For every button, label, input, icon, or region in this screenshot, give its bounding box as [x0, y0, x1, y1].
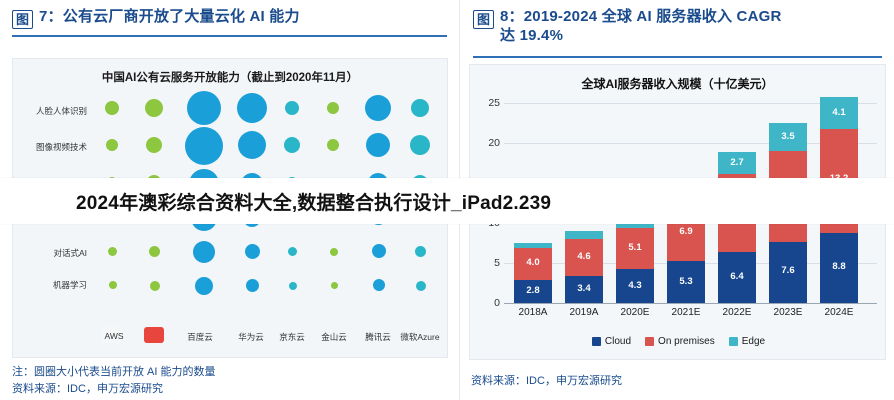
bar-segment-onprem: 4.0 — [514, 248, 552, 280]
logo-huawei — [144, 327, 164, 343]
x-label-2021E: 2021E — [663, 307, 709, 318]
bubble — [149, 246, 160, 257]
bar-label-onprem: 6.9 — [667, 226, 705, 237]
title-divider-left — [12, 35, 447, 37]
bubble — [185, 127, 223, 165]
bar-group-2022E[interactable]: 6.4 9.8 2.7 — [718, 152, 756, 303]
bubble — [285, 101, 299, 115]
figure-badge-icon: 图 — [12, 10, 33, 29]
x-label-2022E: 2022E — [714, 307, 760, 318]
x-label-2024E: 2024E — [816, 307, 862, 318]
row-label-dialog: 对话式AI — [19, 249, 87, 258]
x-label-2019A: 2019A — [561, 307, 607, 318]
bar-group-2018A[interactable]: 2.8 4.0 — [514, 243, 552, 303]
bubble — [411, 99, 429, 117]
bar-group-2019A[interactable]: 3.4 4.6 — [565, 231, 603, 303]
bar-label-onprem: 5.1 — [616, 242, 654, 253]
figure-8-title-line2: 达 19.4% — [500, 27, 563, 44]
bar-segment-onprem: 4.6 — [565, 239, 603, 276]
bar-label-cloud: 8.8 — [820, 261, 858, 272]
bubble — [366, 133, 390, 157]
bar-label-onprem: 4.0 — [514, 257, 552, 268]
bar-label-cloud: 4.3 — [616, 280, 654, 291]
legend-item-cloud[interactable]: Cloud — [592, 336, 631, 347]
bubble — [150, 281, 160, 291]
watermark-banner: 2024年澳彩综合资料大全,数据整合执行设计_iPad2.239 — [0, 178, 894, 224]
figure-8-source: 资料来源：IDC，申万宏源研究 — [471, 372, 622, 388]
bar-label-cloud: 3.4 — [565, 283, 603, 294]
y-tick-5: 5 — [474, 257, 500, 269]
y-tick-25: 25 — [474, 97, 500, 109]
bar-segment-onprem: 5.1 — [616, 228, 654, 269]
bubble — [108, 247, 117, 256]
bubble — [245, 244, 260, 259]
bubble — [193, 241, 215, 263]
bubble — [288, 247, 297, 256]
bubble — [331, 282, 338, 289]
bubble — [106, 139, 118, 151]
watermark-text: 2024年澳彩综合资料大全,数据整合执行设计_iPad2.239 — [0, 188, 551, 215]
bar-label-cloud: 5.3 — [667, 276, 705, 287]
legend-label-edge: Edge — [742, 336, 765, 347]
figure-8-title-row: 图 8：2019-2024 全球 AI 服务器收入 CAGR 达 19.4% — [461, 0, 894, 50]
bar-segment-cloud: 6.4 — [718, 252, 756, 303]
bar-segment-edge: 2.7 — [718, 152, 756, 174]
bar-segment-edge: 3.5 — [769, 123, 807, 151]
col-label-jd: 京东云 — [269, 331, 315, 343]
figure-7-title: 7：公有云厂商开放了大量云化 AI 能力 — [39, 8, 300, 27]
bubble — [145, 99, 163, 117]
legend-item-edge[interactable]: Edge — [729, 336, 765, 347]
figure-7-note-2: 资料来源：IDC，申万宏源研究 — [12, 381, 216, 398]
bubble — [289, 282, 297, 290]
col-label-baidu: 百度云 — [177, 331, 223, 343]
bubble — [372, 244, 386, 258]
col-label-huawei: 华为云 — [228, 331, 274, 343]
x-label-2023E: 2023E — [765, 307, 811, 318]
bubble — [237, 93, 267, 123]
bubble — [330, 248, 338, 256]
right-chart-title: 全球AI服务器收入规模（十亿美元） — [470, 65, 885, 92]
bubble — [238, 131, 266, 159]
bar-label-cloud: 2.8 — [514, 285, 552, 296]
bar-label-cloud: 6.4 — [718, 271, 756, 282]
legend-label-on-premises: On premises — [658, 336, 715, 347]
bar-label-edge: 3.5 — [769, 131, 807, 142]
bubble — [415, 246, 426, 257]
row-label-image: 图像视频技术 — [19, 143, 87, 152]
bubble — [373, 279, 385, 291]
bar-segment-cloud: 7.6 — [769, 242, 807, 303]
x-axis-line — [504, 303, 877, 304]
bar-segment-cloud: 2.8 — [514, 280, 552, 303]
col-label-ksyun: 金山云 — [311, 331, 357, 343]
bar-label-edge: 4.1 — [820, 107, 858, 118]
title-divider-right — [473, 56, 882, 58]
col-label-azure: 微软Azure — [397, 331, 443, 343]
bubble — [416, 281, 426, 291]
left-chart-title: 中国AI公有云服务开放能力（截止到2020年11月） — [13, 59, 447, 85]
x-label-2018A: 2018A — [510, 307, 556, 318]
bar-segment-cloud: 4.3 — [616, 269, 654, 303]
bar-segment-cloud: 3.4 — [565, 276, 603, 303]
col-label-tencent: 腾讯云 — [355, 331, 401, 343]
legend-swatch-edge — [729, 337, 738, 346]
bubble — [327, 102, 339, 114]
x-label-2020E: 2020E — [612, 307, 658, 318]
bubble — [195, 277, 213, 295]
bar-segment-cloud: 5.3 — [667, 261, 705, 303]
bar-segment-edge: 4.1 — [820, 97, 858, 129]
bubble — [146, 137, 162, 153]
bar-label-edge: 2.7 — [718, 157, 756, 168]
chart-legend: Cloud On premises Edge — [470, 336, 887, 347]
figure-8-title: 8：2019-2024 全球 AI 服务器收入 CAGR 达 19.4% — [500, 8, 782, 46]
legend-swatch-on-premises — [645, 337, 654, 346]
row-label-ml: 机器学习 — [19, 281, 87, 290]
figure-7-title-row: 图 7：公有云厂商开放了大量云化 AI 能力 — [0, 0, 459, 33]
figure-7-note-1: 注：圆圈大小代表当前开放 AI 能力的数量 — [12, 364, 216, 381]
bubble — [327, 139, 339, 151]
legend-item-on-premises[interactable]: On premises — [645, 336, 715, 347]
figure-badge-icon: 图 — [473, 10, 494, 29]
figure-7-notes: 注：圆圈大小代表当前开放 AI 能力的数量 资料来源：IDC，申万宏源研究 — [12, 364, 216, 397]
bar-segment-edge — [514, 243, 552, 248]
bar-segment-cloud: 8.8 — [820, 233, 858, 303]
bubble — [284, 137, 300, 153]
bar-segment-edge — [565, 231, 603, 239]
bubble — [109, 281, 117, 289]
y-tick-20: 20 — [474, 137, 500, 149]
col-label-aws: AWS — [91, 331, 137, 341]
bar-group-2020E[interactable]: 4.3 5.1 — [616, 217, 654, 303]
legend-swatch-cloud — [592, 337, 601, 346]
bubble — [410, 135, 430, 155]
bubble — [365, 95, 391, 121]
bubble — [105, 101, 119, 115]
bubble — [187, 91, 221, 125]
bar-label-cloud: 7.6 — [769, 265, 807, 276]
row-label-face: 人脸人体识别 — [19, 107, 87, 116]
bar-label-onprem: 4.6 — [565, 251, 603, 262]
legend-label-cloud: Cloud — [605, 336, 631, 347]
figure-8-title-line1: 8：2019-2024 全球 AI 服务器收入 CAGR — [500, 8, 782, 25]
bubble — [246, 279, 259, 292]
page-root: 图 7：公有云厂商开放了大量云化 AI 能力 中国AI公有云服务开放能力（截止到… — [0, 0, 894, 400]
y-tick-0: 0 — [474, 297, 500, 309]
